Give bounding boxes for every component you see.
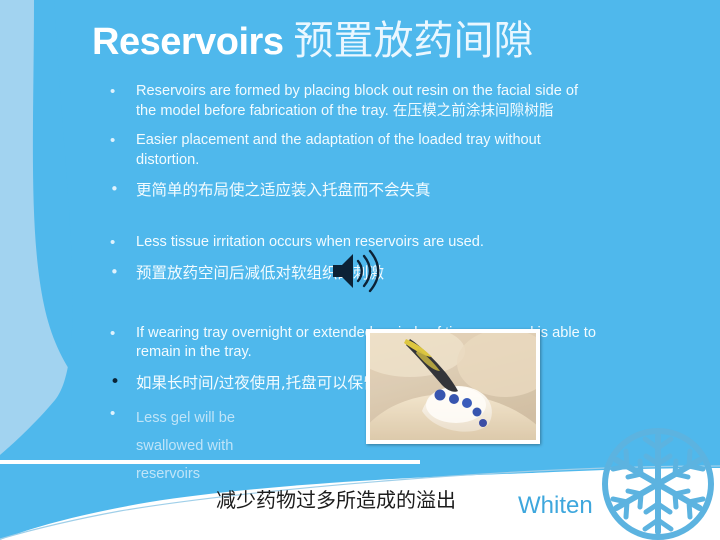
speaker-icon[interactable] (327, 248, 385, 294)
list-item: • Reservoirs are formed by placing block… (100, 82, 600, 121)
bullet-marker: • (110, 404, 115, 424)
bullet-marker: • (110, 373, 120, 393)
spacer (100, 223, 600, 233)
list-item: • Easier placement and the adaptation of… (100, 131, 600, 170)
bullet-text: Reservoirs are formed by placing block o… (136, 83, 578, 119)
bullet-marker: • (110, 324, 115, 344)
bullet-marker: • (110, 233, 115, 253)
list-item: • Less gel will be swallowed with reserv… (100, 404, 286, 488)
speaker-icon-glyph (327, 248, 385, 294)
dental-tray-photo (366, 329, 540, 444)
spacer (100, 170, 600, 180)
slide-title: Reservoirs预置放药间隙 (92, 18, 692, 66)
bullet-marker: • (110, 82, 115, 102)
bullet-marker: • (110, 180, 119, 200)
photo-artwork (370, 333, 536, 440)
bullet-marker: • (110, 263, 119, 283)
spacer (100, 306, 600, 324)
snowflake-icon (596, 428, 720, 540)
caption-chinese: 减少药物过多所造成的溢出 (216, 484, 456, 513)
spacer (100, 201, 600, 223)
bullet-text: Less gel will be swallowed with reservoi… (136, 410, 235, 482)
list-item: • 更简单的布局使之适应装入托盘而不会失真 (100, 180, 600, 201)
slide-canvas: Reservoirs预置放药间隙 • Reservoirs are formed… (0, 0, 720, 540)
brand-label: Whiten (518, 492, 593, 520)
spacer (100, 121, 600, 131)
title-chinese: 预置放药间隙 (293, 18, 533, 64)
title-english: Reservoirs (92, 21, 283, 63)
photo-image (370, 333, 536, 440)
bullet-text: Less tissue irritation occurs when reser… (136, 234, 484, 250)
bullet-marker: • (110, 131, 115, 151)
snowflake-icon-glyph (596, 428, 720, 540)
bullet-text: 更简单的布局使之适应装入托盘而不会失真 (136, 181, 431, 199)
bullet-text: Easier placement and the adaptation of t… (136, 132, 541, 168)
